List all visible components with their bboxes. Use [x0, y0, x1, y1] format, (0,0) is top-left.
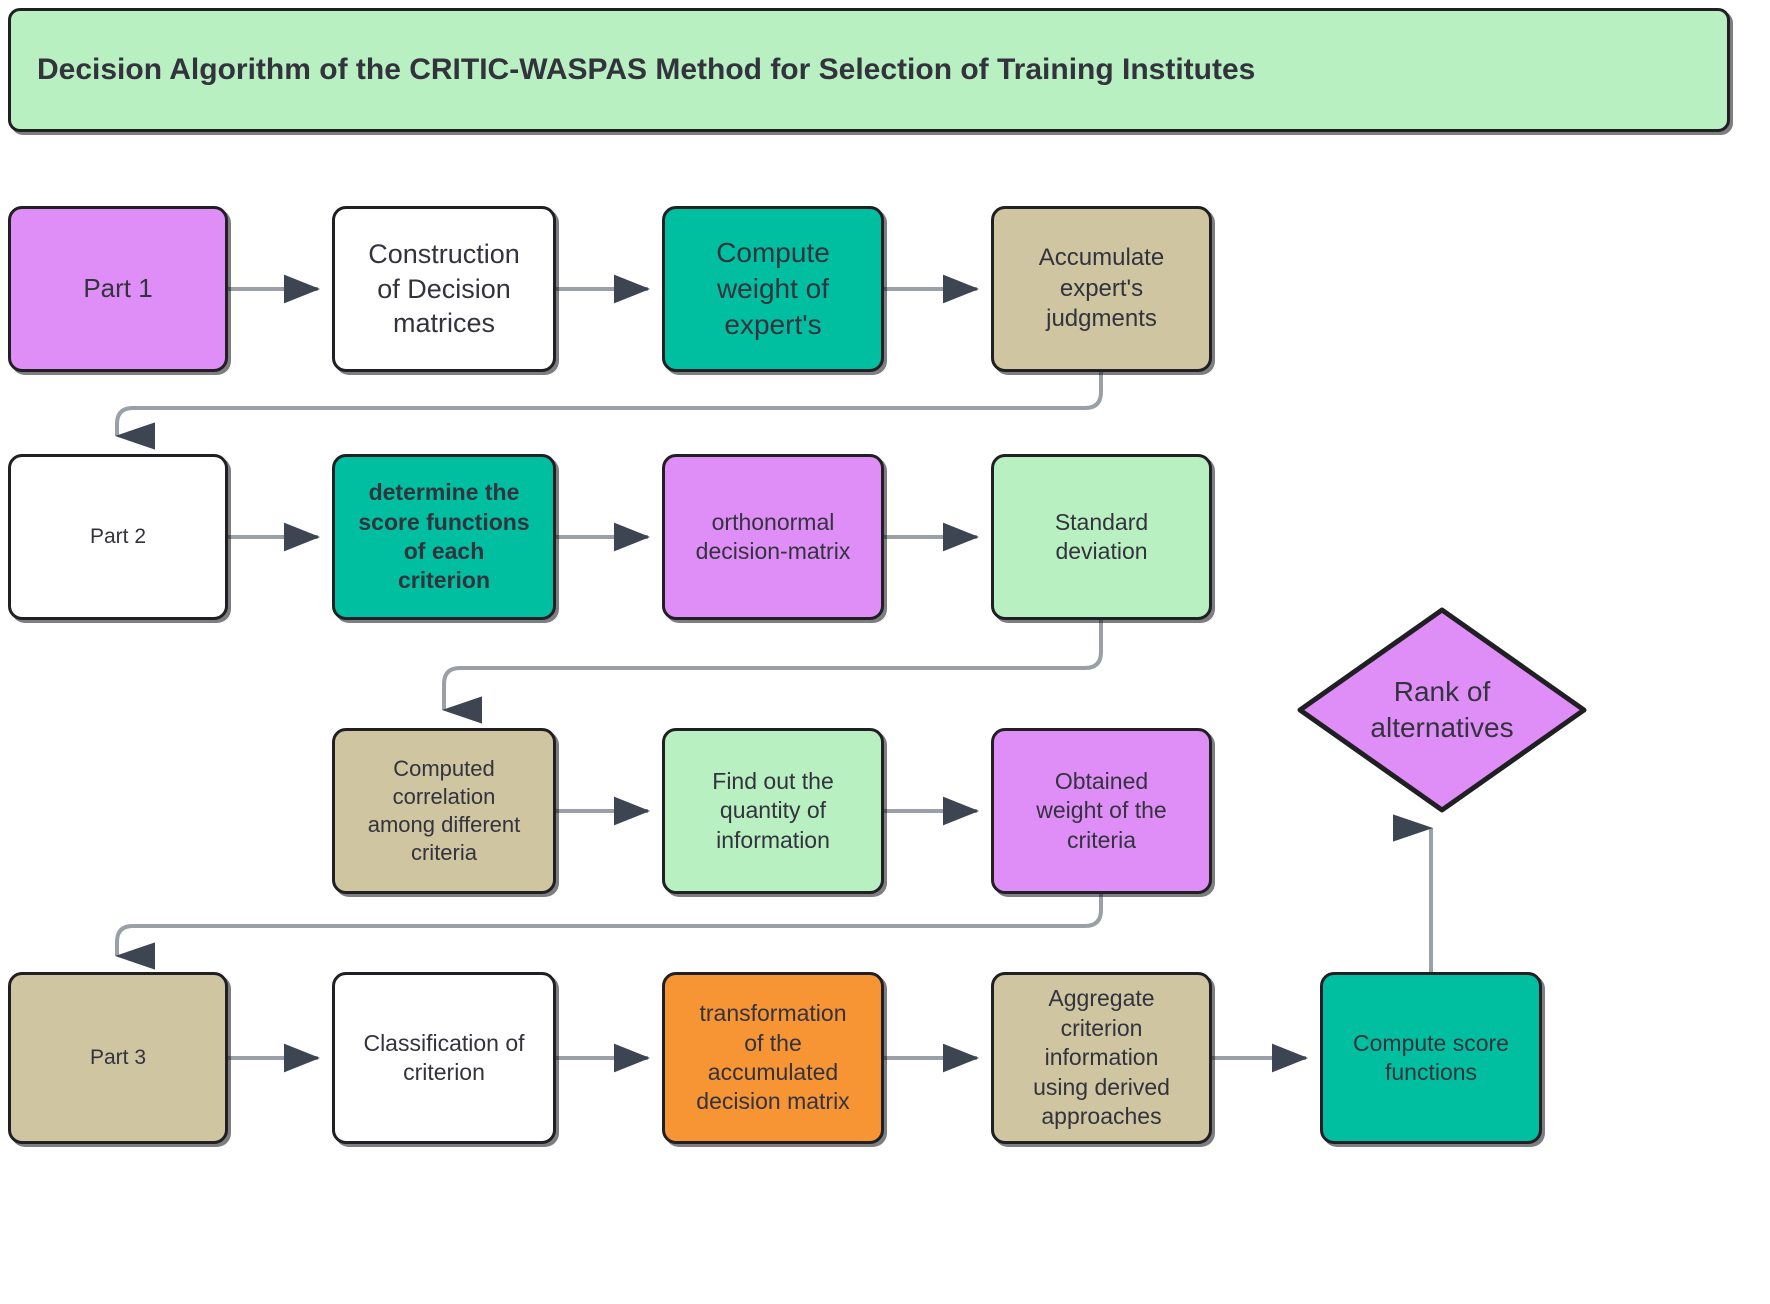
node-transformation-of-accumulated-decision-matrix-label: transformation of the accumulated decisi… [696, 999, 849, 1117]
node-transformation-of-accumulated-decision-matrix[interactable]: transformation of the accumulated decisi… [662, 972, 884, 1144]
node-part2[interactable]: Part 2 [8, 454, 228, 620]
node-part3-label: Part 3 [90, 1045, 146, 1072]
node-orthonormal-decision-matrix[interactable]: orthonormal decision-matrix [662, 454, 884, 620]
node-accumulate-experts-judgments[interactable]: Accumulate expert's judgments [991, 206, 1212, 372]
node-computed-correlation-label: Computed correlation among different cri… [368, 755, 520, 868]
node-standard-deviation[interactable]: Standard deviation [991, 454, 1212, 620]
flowchart-canvas: Decision Algorithm of the CRITIC-WASPAS … [0, 0, 1770, 1304]
node-classification-of-criterion[interactable]: Classification of criterion [332, 972, 556, 1144]
node-compute-weight-of-experts-label: Compute weight of expert's [716, 235, 830, 342]
node-rank-of-alternatives[interactable]: Rank of alternatives [1294, 604, 1590, 816]
node-aggregate-criterion-information[interactable]: Aggregate criterion information using de… [991, 972, 1212, 1144]
node-find-out-quantity-of-information-label: Find out the quantity of information [712, 767, 833, 855]
node-find-out-quantity-of-information[interactable]: Find out the quantity of information [662, 728, 884, 894]
node-part3[interactable]: Part 3 [8, 972, 228, 1144]
node-orthonormal-decision-matrix-label: orthonormal decision-matrix [696, 508, 851, 567]
node-computed-correlation[interactable]: Computed correlation among different cri… [332, 728, 556, 894]
page-title: Decision Algorithm of the CRITIC-WASPAS … [8, 8, 1730, 132]
node-construction-of-decision-matrices-label: Construction of Decision matrices [368, 237, 520, 341]
node-compute-weight-of-experts[interactable]: Compute weight of expert's [662, 206, 884, 372]
node-obtained-weight-of-criteria-label: Obtained weight of the criteria [1036, 767, 1166, 855]
page-title-text: Decision Algorithm of the CRITIC-WASPAS … [37, 53, 1255, 87]
node-determine-score-functions-label: determine the score functions of each cr… [358, 478, 529, 596]
node-accumulate-experts-judgments-label: Accumulate expert's judgments [1039, 243, 1164, 335]
edge-standard-deviation-to-computed-correlation [444, 620, 1101, 710]
node-classification-of-criterion-label: Classification of criterion [363, 1029, 524, 1088]
node-construction-of-decision-matrices[interactable]: Construction of Decision matrices [332, 206, 556, 372]
node-compute-score-functions[interactable]: Compute score functions [1320, 972, 1542, 1144]
edge-accumulate-to-part2 [117, 372, 1101, 436]
node-compute-score-functions-label: Compute score functions [1353, 1029, 1509, 1088]
node-rank-of-alternatives-label: Rank of alternatives [1370, 674, 1513, 747]
node-part1-label: Part 1 [83, 272, 152, 305]
edge-obtained-weight-to-part3 [117, 894, 1101, 956]
node-obtained-weight-of-criteria[interactable]: Obtained weight of the criteria [991, 728, 1212, 894]
node-standard-deviation-label: Standard deviation [1055, 508, 1148, 567]
node-determine-score-functions[interactable]: determine the score functions of each cr… [332, 454, 556, 620]
node-part1[interactable]: Part 1 [8, 206, 228, 372]
node-aggregate-criterion-information-label: Aggregate criterion information using de… [1033, 984, 1170, 1131]
node-part2-label: Part 2 [90, 524, 146, 551]
